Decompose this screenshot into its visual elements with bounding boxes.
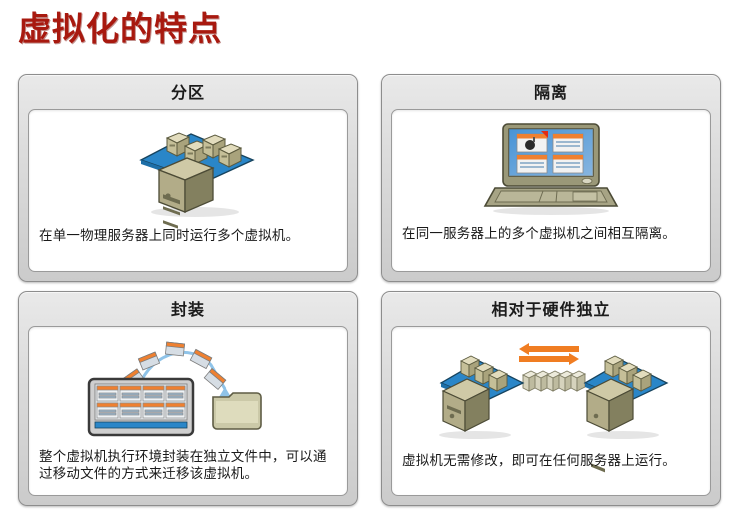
panel-body-encapsulation: 整个虚拟机执行环境封装在独立文件中，可以通过移动文件的方式来迁移该虚拟机。 [28, 326, 348, 496]
two-servers-migration-icon [392, 335, 710, 443]
panel-hardware-independence[interactable]: 相对于硬件独立 [381, 291, 721, 506]
laptop-with-vm-windows-icon [392, 114, 710, 220]
slide-canvas: 虚拟化的特点 分区 [0, 0, 740, 513]
panel-title-hardware-independence: 相对于硬件独立 [391, 299, 711, 321]
panel-title-encapsulation: 封装 [28, 299, 348, 321]
panel-caption-partitioning: 在单一物理服务器上同时运行多个虚拟机。 [39, 228, 339, 245]
panel-caption-hardware-independence: 虚拟机无需修改，即可在任何服务器上运行。 [402, 453, 702, 470]
vm-grid-to-folder-icon [29, 333, 347, 443]
panel-body-partitioning: 在单一物理服务器上同时运行多个虚拟机。 [28, 109, 348, 272]
panel-caption-isolation: 在同一服务器上的多个虚拟机之间相互隔离。 [402, 226, 702, 243]
feature-grid: 分区 [18, 74, 724, 506]
panel-encapsulation[interactable]: 封装 [18, 291, 358, 506]
panel-body-isolation: 在同一服务器上的多个虚拟机之间相互隔离。 [391, 109, 711, 272]
panel-title-partitioning: 分区 [28, 82, 348, 104]
panel-body-hardware-independence: 虚拟机无需修改，即可在任何服务器上运行。 [391, 326, 711, 496]
panel-partitioning[interactable]: 分区 [18, 74, 358, 282]
panel-title-isolation: 隔离 [391, 82, 711, 104]
server-with-vms-icon [29, 114, 347, 222]
panel-caption-encapsulation: 整个虚拟机执行环境封装在独立文件中，可以通过移动文件的方式来迁移该虚拟机。 [39, 449, 339, 483]
page-title: 虚拟化的特点 [18, 2, 222, 50]
panel-isolation[interactable]: 隔离 [381, 74, 721, 282]
